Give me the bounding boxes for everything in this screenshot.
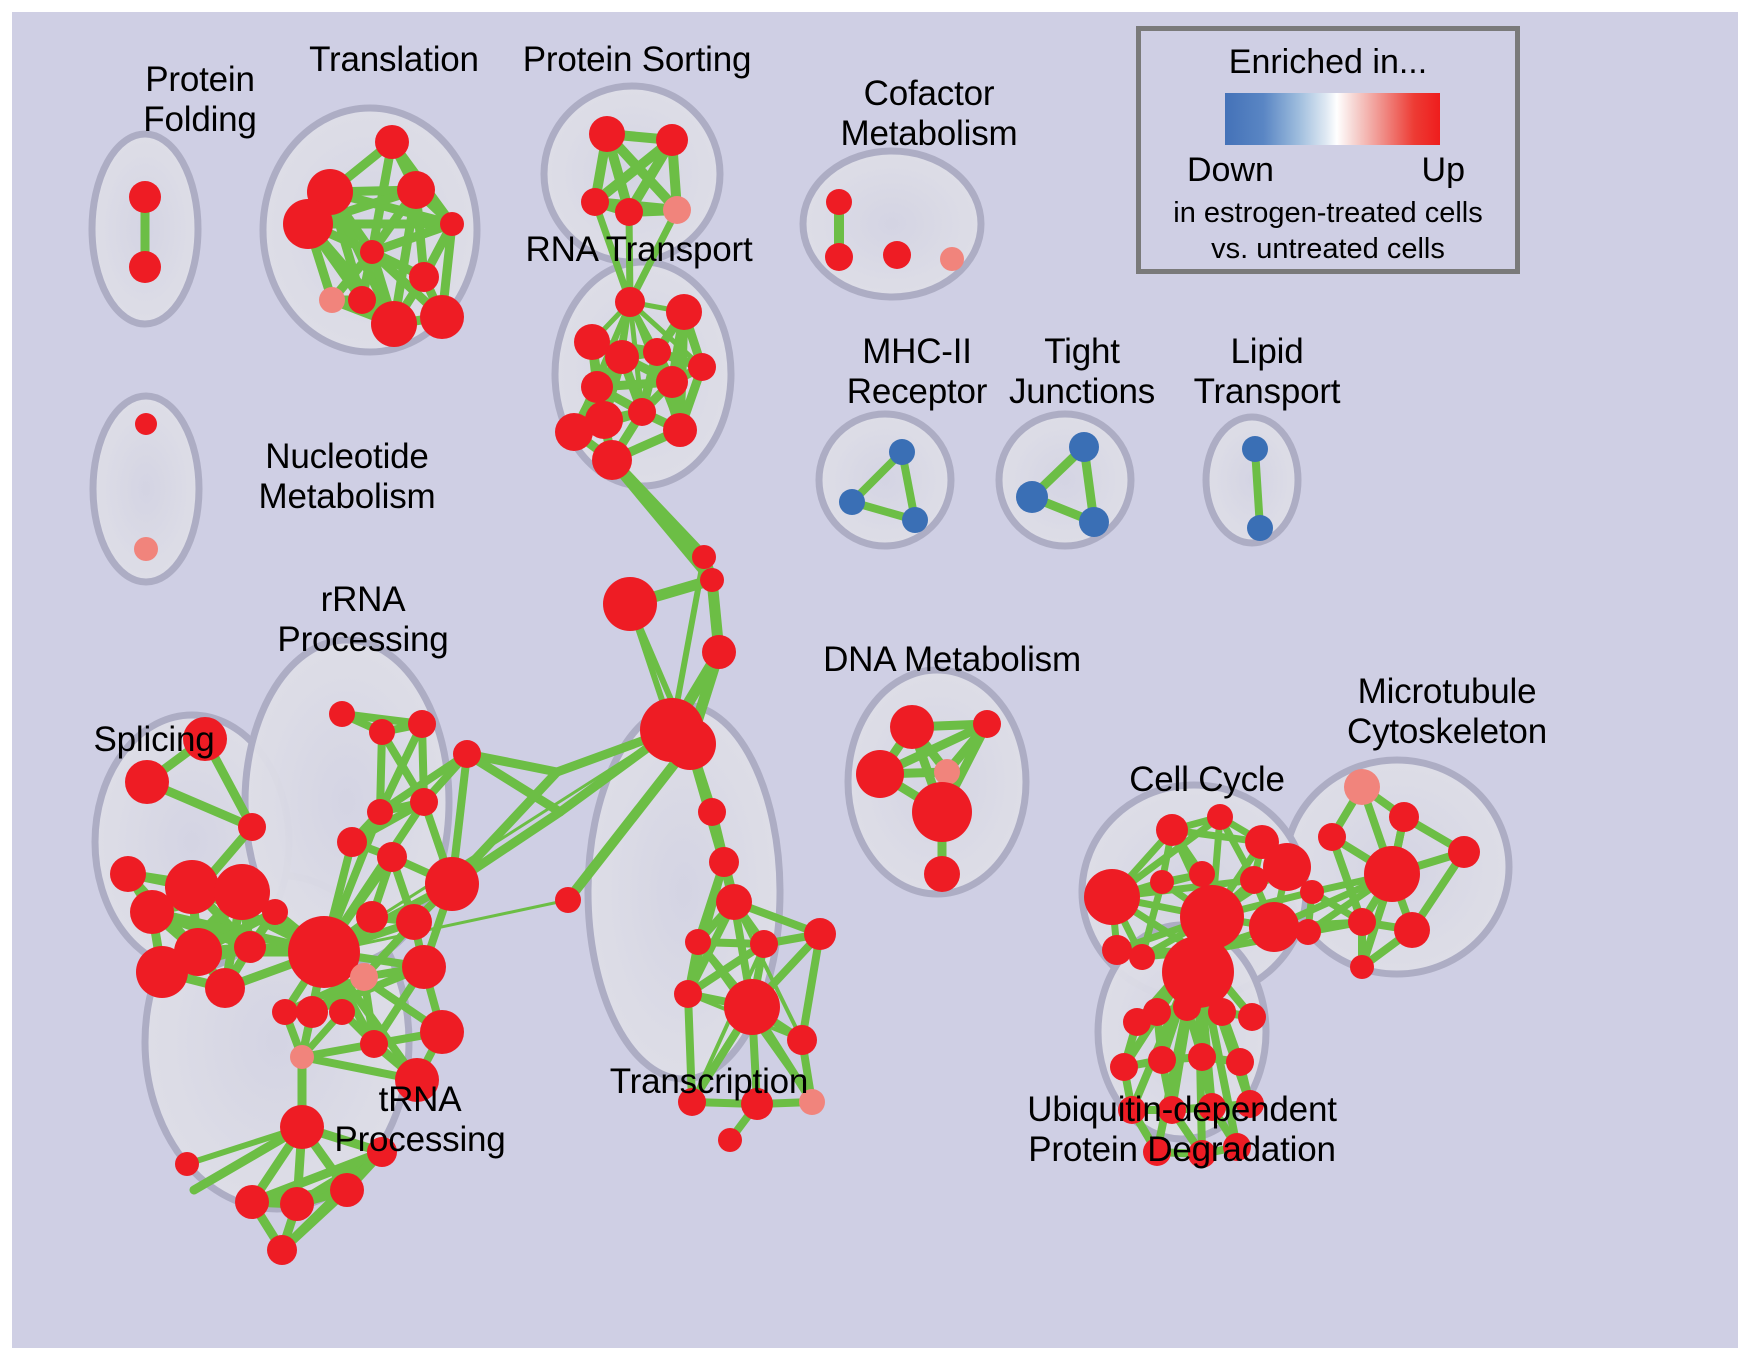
legend-box: Enriched in... Down Up in estrogen-treat… <box>1136 26 1520 274</box>
legend-subtitle-line1: in estrogen-treated cells <box>1141 197 1515 230</box>
cluster-cofactor <box>803 151 981 297</box>
network-canvas: Protein Folding Translation Protein Sort… <box>12 12 1738 1348</box>
label-dna-metabolism: DNA Metabolism <box>802 640 1102 680</box>
label-trna-processing: tRNA Processing <box>300 1080 540 1160</box>
label-transcription: Transcription <box>574 1062 844 1102</box>
label-cofactor-metabolism: Cofactor Metabolism <box>784 74 1074 154</box>
legend-up-label: Up <box>1422 151 1465 190</box>
legend-title: Enriched in... <box>1141 43 1515 82</box>
label-rrna-processing: rRNA Processing <box>248 580 478 660</box>
label-lipid-transport: Lipid Transport <box>1157 332 1377 412</box>
label-microtubule-cytoskeleton: Microtubule Cytoskeleton <box>1302 672 1592 752</box>
label-protein-sorting: Protein Sorting <box>492 40 782 80</box>
legend-subtitle-line2: vs. untreated cells <box>1141 233 1515 266</box>
label-translation: Translation <box>274 40 514 80</box>
legend-down-label: Down <box>1187 151 1274 190</box>
label-ubiquitin-degradation: Ubiquitin-dependent Protein Degradation <box>982 1090 1382 1170</box>
label-rna-transport: RNA Transport <box>494 230 784 270</box>
cluster-mhc-ii <box>819 414 951 546</box>
label-nucleotide-metabolism: Nucleotide Metabolism <box>202 437 492 517</box>
cluster-tight-junctions <box>999 414 1131 546</box>
legend-color-bar <box>1225 93 1440 145</box>
label-cell-cycle: Cell Cycle <box>1092 760 1322 800</box>
label-splicing: Splicing <box>64 720 244 760</box>
figure-root: Protein Folding Translation Protein Sort… <box>0 0 1750 1360</box>
